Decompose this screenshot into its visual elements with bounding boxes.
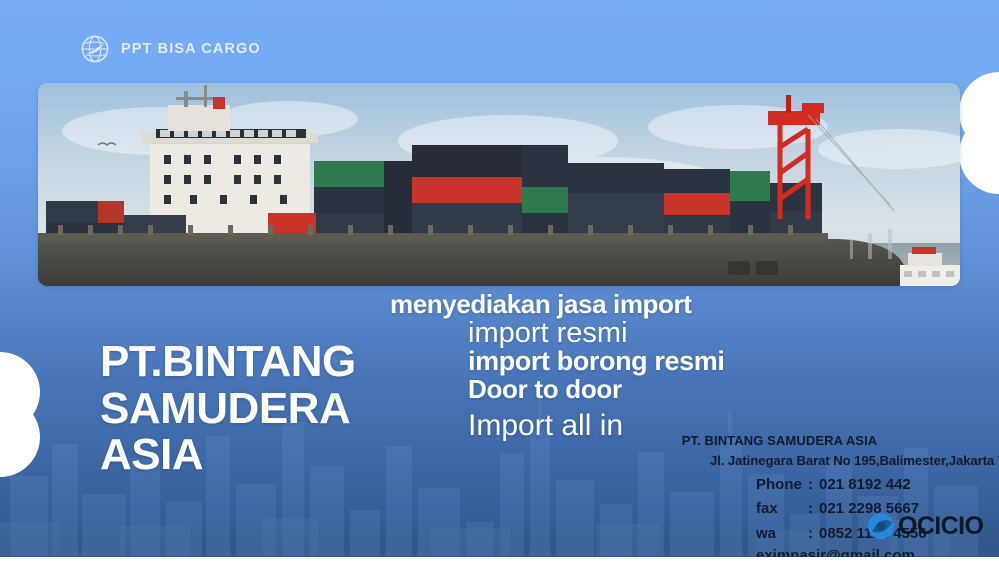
company-title: PT.BINTANG SAMUDERA ASIA	[100, 339, 356, 479]
company-title-line-1: PT.BINTANG	[100, 339, 356, 386]
contact-label-fax: fax	[756, 497, 808, 521]
company-title-line-3: ASIA	[100, 432, 356, 479]
company-title-line-2: SAMUDERA	[100, 386, 356, 433]
contact-sep-fax: :	[808, 497, 819, 521]
service-item-import-resmi: import resmi	[468, 318, 724, 348]
contact-company-name: PT. BINTANG SAMUDERA ASIA	[560, 431, 999, 451]
cargo-promo-banner: PPT BISA CARGO	[0, 0, 999, 562]
watermark: OCICIO	[866, 511, 983, 541]
contact-sep-wa: :	[808, 522, 819, 546]
brand-header: PPT BISA CARGO	[80, 34, 261, 64]
contact-label-phone: Phone	[756, 473, 808, 497]
brand-name: PPT BISA CARGO	[121, 41, 261, 57]
watermark-text: OCICIO	[898, 514, 983, 539]
bottom-strip	[0, 557, 999, 562]
contact-label-wa: wa	[756, 522, 808, 546]
globe-swoosh-icon	[80, 34, 110, 64]
contact-sep-phone: :	[808, 473, 819, 497]
services-heading: menyediakan jasa import	[390, 290, 724, 318]
service-item-door-to-door: Door to door	[468, 376, 724, 404]
decorative-semicircles-left	[0, 352, 60, 482]
contact-row-phone: Phone : 021 8192 442	[756, 473, 999, 497]
contact-value-phone: 021 8192 442	[819, 473, 911, 497]
contact-address: Jl. Jatinegara Barat No 195,Balimester,J…	[710, 451, 999, 471]
ocicio-circle-icon	[866, 511, 896, 541]
contact-block: PT. BINTANG SAMUDERA ASIA Jl. Jatinegara…	[560, 431, 999, 562]
services-list: menyediakan jasa import import resmi imp…	[390, 290, 724, 448]
container-ship-photo	[38, 83, 960, 286]
service-item-import-borong-resmi: import borong resmi	[468, 348, 724, 376]
